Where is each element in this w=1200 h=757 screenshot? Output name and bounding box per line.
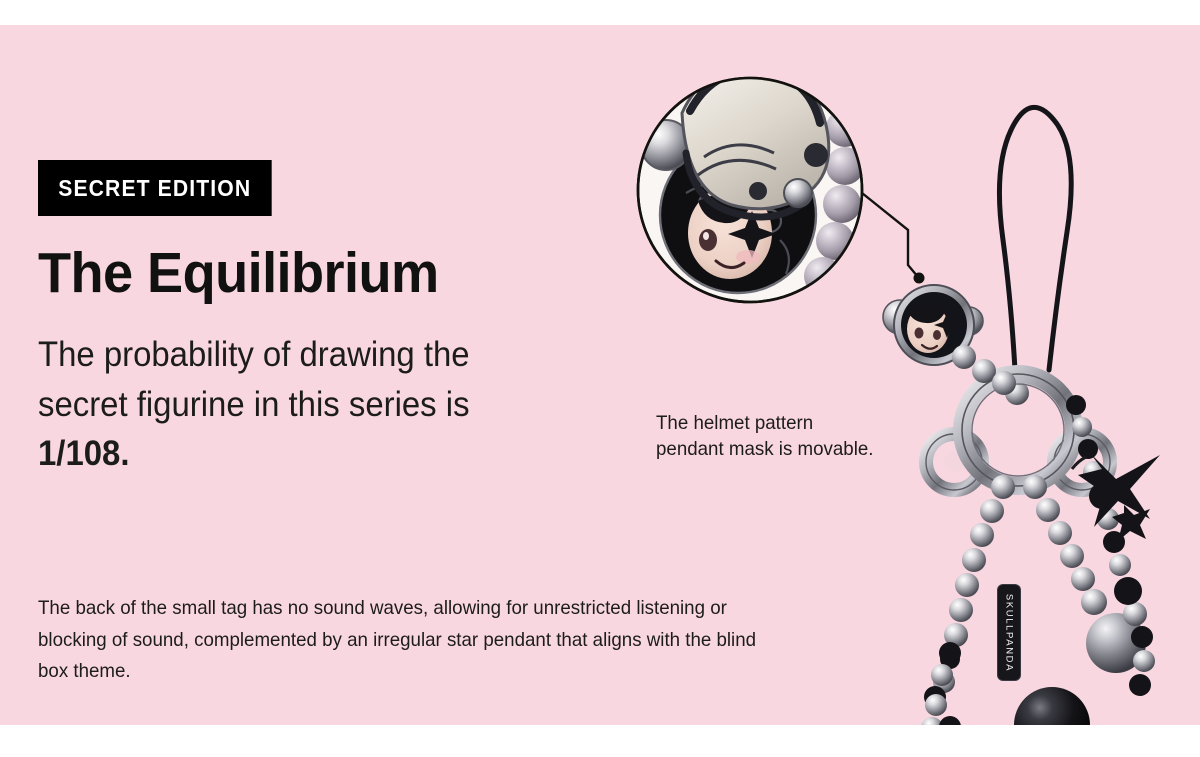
callout-leader-line [862, 193, 925, 284]
magnified-detail-circle [638, 66, 864, 302]
product-image-area: SKULLPANDA The helmet pattern pendant ma… [620, 25, 1200, 725]
probability-line-1: The probability of drawing the [38, 335, 470, 374]
page-title: The Equilibrium [38, 244, 627, 304]
callout-caption-line-1: The helmet pattern [656, 412, 813, 434]
name-tag-body: SKULLPANDA [998, 585, 1020, 680]
name-tag-label: SKULLPANDA [1004, 593, 1015, 671]
callout-caption-line-2: pendant mask is movable. [656, 438, 873, 460]
callout-caption: The helmet pattern pendant mask is movab… [656, 410, 934, 463]
product-illustration [620, 25, 1200, 725]
probability-line-2: secret figurine in this series is [38, 385, 470, 424]
odds-value: 1/108. [38, 434, 129, 473]
secret-edition-badge: SECRET EDITION [38, 160, 271, 216]
black-cord-loop [999, 107, 1071, 405]
promo-poster: SECRET EDITION The Equilibrium The proba… [0, 0, 1200, 757]
promo-text-column: SECRET EDITION The Equilibrium The proba… [38, 160, 658, 479]
probability-statement: The probability of drawing the secret fi… [38, 330, 583, 479]
